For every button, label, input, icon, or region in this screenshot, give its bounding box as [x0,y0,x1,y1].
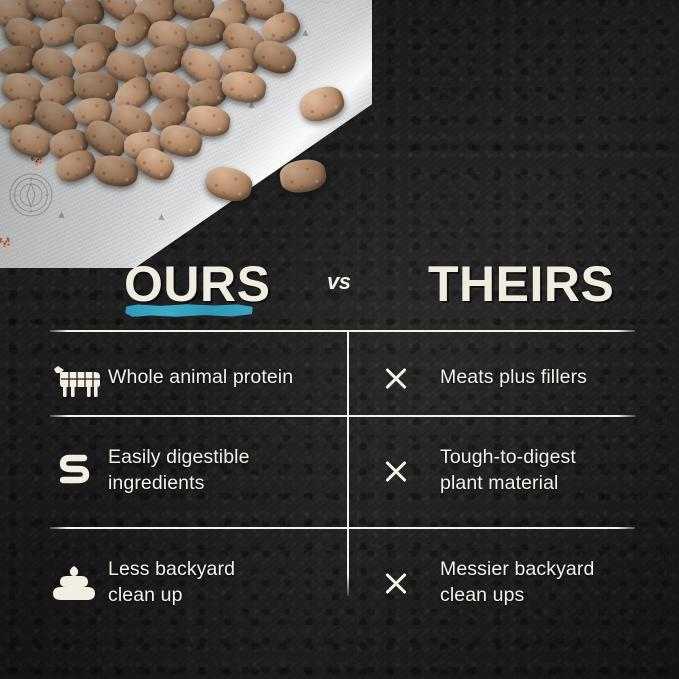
x-mark-icon [382,458,440,485]
grid-divider-top [50,330,635,332]
theirs-row-1-label: Meats plus fillers [440,365,587,391]
poop-pile-icon [50,559,108,607]
ours-row-1-label: Whole animal protein [108,365,293,391]
table-row: Meats plus fillers [382,344,652,412]
theirs-row-2-label: Tough-to-digest plant material [440,445,576,496]
intestine-digestive-icon [50,447,108,495]
theirs-row-3-label: Messier backyard clean ups [440,557,594,608]
x-mark-icon [382,570,440,597]
ours-row-2-label: Easily digestible ingredients [108,445,250,496]
table-row: Less backyard clean up [50,536,340,630]
x-mark-icon [382,365,440,392]
ours-row-3-label: Less backyard clean up [108,557,235,608]
grid-divider-2 [50,527,635,529]
table-row: Easily digestible ingredients [50,424,340,518]
grid-divider-1 [50,415,635,417]
table-row: Tough-to-digest plant material [382,424,652,518]
cow-butcher-cuts-icon [50,357,108,399]
grid-divider-vertical [347,331,349,596]
table-row: Whole animal protein [50,344,340,412]
comparison-grid: Whole animal protein Meats plus fillers … [0,0,679,679]
comparison-graphic: ▲ 🐕 ▲ 🐔 ▲ 🐔 ▲ 🐕 ▲ 🐔 ▲ 🐕 ▲ ▲ 🐔 [0,0,679,679]
table-row: Messier backyard clean ups [382,536,652,630]
